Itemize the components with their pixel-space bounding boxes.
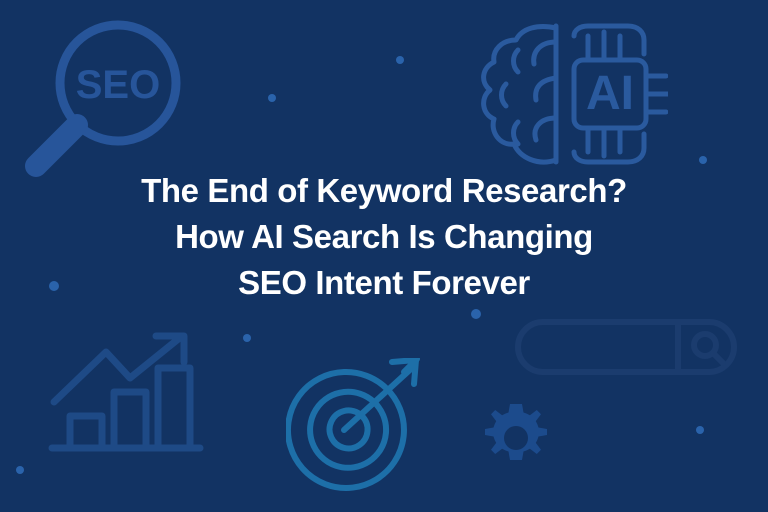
decorative-dot <box>471 309 481 319</box>
decorative-dot <box>396 56 404 64</box>
decorative-dot <box>699 156 707 164</box>
title-line-1: The End of Keyword Research? <box>0 168 768 214</box>
blog-header-graphic: SEO <box>0 0 768 512</box>
title-line-3: SEO Intent Forever <box>0 260 768 306</box>
page-title: The End of Keyword Research? How AI Sear… <box>0 168 768 306</box>
decorative-dot <box>696 426 704 434</box>
decorative-dot <box>268 94 276 102</box>
decorative-dot <box>243 334 251 342</box>
title-line-2: How AI Search Is Changing <box>0 214 768 260</box>
decorative-dot <box>16 466 24 474</box>
